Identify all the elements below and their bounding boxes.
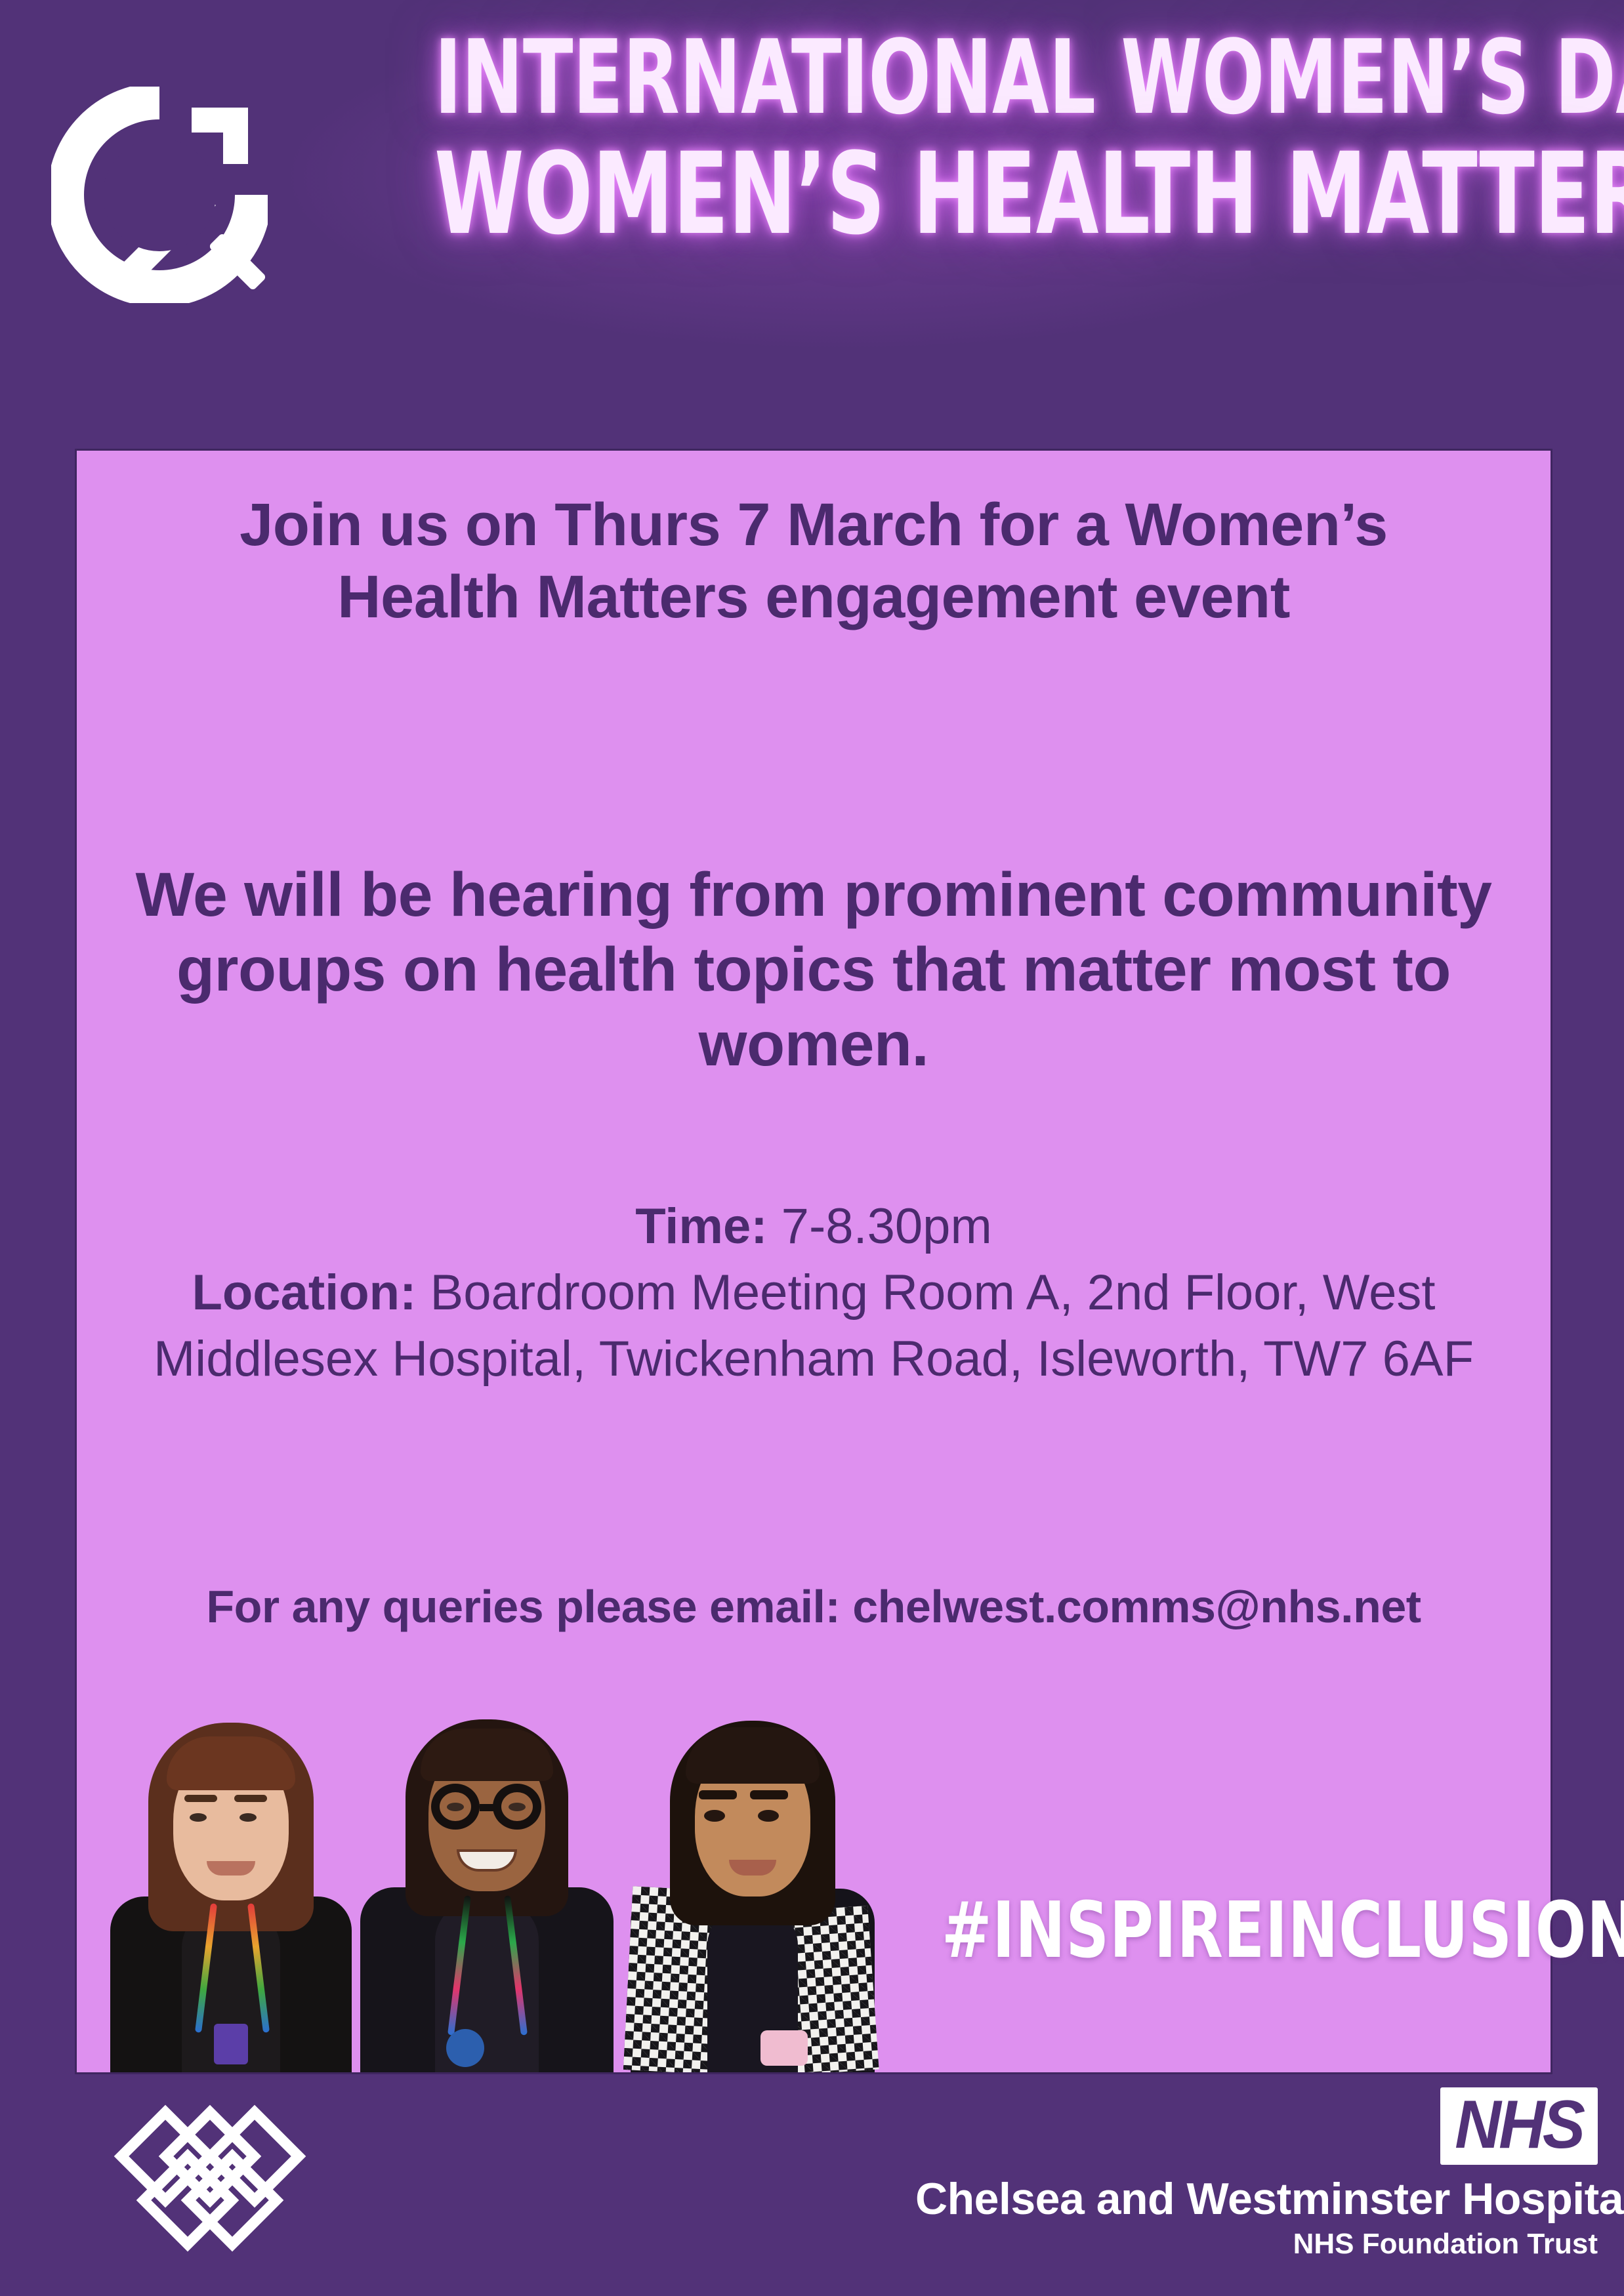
- person-left-eye-right: [239, 1813, 257, 1822]
- inspire-inclusion-hashtag: #INSPIREINCLUSION: [942, 1885, 1624, 1975]
- poster-title-line-1: INTERNATIONAL WOMEN’S DAY: [434, 26, 1442, 129]
- event-time-line: Time: 7-8.30pm: [116, 1193, 1511, 1260]
- person-right-brow-right: [750, 1790, 788, 1799]
- person-centre-eye-right: [509, 1803, 526, 1811]
- person-right: [621, 1684, 884, 2072]
- person-left-eye-left: [190, 1813, 207, 1822]
- person-centre-id-badge: [446, 2029, 484, 2067]
- person-right-eye-right: [758, 1810, 779, 1822]
- person-left-mouth: [207, 1861, 255, 1876]
- person-centre-glasses-bridge: [480, 1804, 497, 1811]
- headline-block: INTERNATIONAL WOMEN’S DAY WOMEN’S HEALTH…: [308, 26, 1568, 251]
- person-left: [103, 1684, 359, 2072]
- person-right-eye-left: [704, 1810, 725, 1822]
- poster-footer: NHS Chelsea and Westminster Hospital NHS…: [0, 2074, 1624, 2296]
- nhs-logo: NHS: [1440, 2087, 1598, 2165]
- person-right-brow-left: [699, 1790, 737, 1799]
- person-right-id-badge: [760, 2030, 808, 2066]
- person-centre-hair-front: [421, 1729, 553, 1781]
- person-left-brow-left: [184, 1795, 217, 1802]
- contact-email-line[interactable]: For any queries please email: chelwest.c…: [116, 1580, 1511, 1633]
- trust-name: Chelsea and Westminster Hospital: [915, 2175, 1598, 2223]
- event-intro-paragraph: Join us on Thurs 7 March for a Women’s H…: [156, 489, 1472, 634]
- international-womens-day-logo: [51, 87, 268, 303]
- poster-title-line-2: WOMEN’S HEALTH MATTERS: [434, 138, 1442, 251]
- poster-root: INTERNATIONAL WOMEN’S DAY WOMEN’S HEALTH…: [0, 0, 1624, 2296]
- event-location-line: Location: Boardroom Meeting Room A, 2nd …: [116, 1260, 1511, 1392]
- event-description-paragraph: We will be hearing from prominent commun…: [129, 857, 1498, 1082]
- nhs-logo-text: NHS: [1455, 2090, 1583, 2160]
- content-panel: Join us on Thurs 7 March for a Women’s H…: [75, 449, 1552, 2074]
- person-left-hair-front: [167, 1736, 295, 1790]
- person-right-hair-front: [686, 1727, 820, 1784]
- staff-group-photo: [77, 1684, 904, 2072]
- nhs-trust-lockup: NHS Chelsea and Westminster Hospital NHS…: [915, 2087, 1598, 2261]
- chelsea-westminster-diamonds-logo: [72, 2101, 348, 2278]
- person-centre: [352, 1684, 621, 2072]
- trust-subtitle: NHS Foundation Trust: [915, 2228, 1598, 2261]
- person-left-brow-right: [234, 1795, 267, 1802]
- location-label: Location:: [192, 1265, 416, 1321]
- time-value: 7-8.30pm: [768, 1199, 992, 1254]
- poster-header: INTERNATIONAL WOMEN’S DAY WOMEN’S HEALTH…: [0, 0, 1624, 420]
- time-label: Time:: [635, 1199, 767, 1254]
- person-centre-eye-left: [447, 1803, 464, 1811]
- person-left-id-badge: [214, 2024, 248, 2064]
- event-details-block: Time: 7-8.30pm Location: Boardroom Meeti…: [116, 1193, 1511, 1392]
